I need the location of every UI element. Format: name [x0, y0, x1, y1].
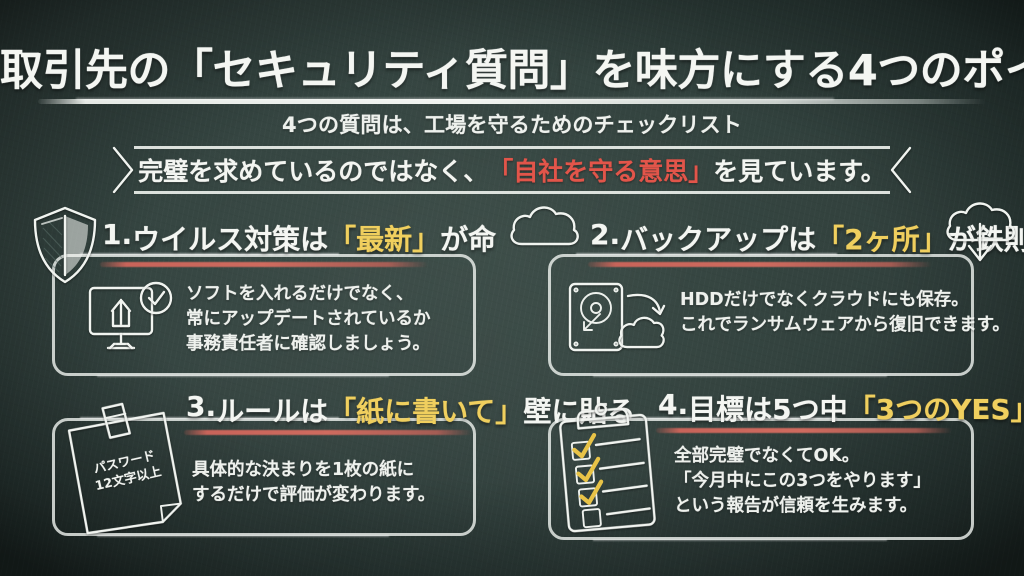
card-2-heading-before: バックアップは: [620, 218, 816, 258]
slide-root: 取引先の「セキュリティ質問」を味方にする4つのポイント 4つの質問は、工場を守る…: [0, 0, 1024, 576]
card-2-heading-underline: [588, 262, 932, 267]
card-3-heading-underline: [184, 430, 472, 435]
card-2-body-line-1: HDDだけでなくクラウドにも保存。: [680, 288, 1010, 313]
card-2-heading: 2. バックアップは「2ヶ所」が鉄則: [590, 218, 974, 258]
card-4[interactable]: 4. 目標は5つ中「3つのYES」 全部完璧でなくてOK。 「今月中にこの3つを…: [548, 418, 974, 540]
ribbon-banner: 完璧を求めているのではなく、「自社を守る意思」を見ています。: [112, 146, 912, 194]
card-1-body-line-2: 常にアップデートされているか: [186, 307, 430, 332]
cloud-icon: [506, 200, 584, 252]
card-4-body-line-2: 「今月中にこの3つをやります」: [674, 469, 931, 494]
card-2[interactable]: 2. バックアップは「2ヶ所」が鉄則 HDDだけでなくクラウドにも保存。 これで…: [548, 254, 974, 376]
title-divider: [38, 99, 986, 104]
card-3-body: 具体的な決まりを1枚の紙に するだけで評価が変わります。: [192, 458, 435, 508]
card-3-number: 3.: [186, 390, 216, 423]
ribbon-text-highlight: 「自社を守る意思」: [488, 152, 713, 188]
cloud-download-icon: [940, 198, 1020, 272]
card-3-heading-before: ルールは: [216, 390, 328, 430]
card-1-heading-before: ウイルス対策は: [132, 218, 328, 258]
card-4-body-line-3: という報告が信頼を生みます。: [674, 494, 931, 519]
arrow-curve-icon: [628, 295, 664, 314]
card-4-heading: 4. 目標は5つ中「3つのYES」: [658, 388, 974, 428]
card-4-heading-underline: [656, 428, 952, 433]
card-3-body-line-1: 具体的な決まりを1枚の紙に: [192, 458, 435, 483]
card-1[interactable]: 1. ウイルス対策は「最新」が命 ソフトを入れるだけでなく、 常にアップデートさ…: [52, 254, 476, 376]
card-1-heading-after: が命: [440, 218, 496, 258]
card-1-body-line-3: 事務責任者に確認しましょう。: [186, 332, 430, 357]
ribbon-text: 完璧を求めているのではなく、「自社を守る意思」を見ています。: [112, 146, 912, 194]
card-4-body: 全部完璧でなくてOK。 「今月中にこの3つをやります」 という報告が信頼を生みま…: [674, 444, 931, 519]
card-3-heading: 3. ルールは「紙に書いて」壁に貼る: [186, 390, 476, 430]
hard-disk-icon: [566, 278, 678, 362]
card-1-body: ソフトを入れるだけでなく、 常にアップデートされているか 事務責任者に確認しまし…: [186, 282, 430, 357]
card-3-heading-highlight: 「紙に書いて」: [328, 390, 523, 430]
card-4-body-line-1: 全部完璧でなくてOK。: [674, 444, 931, 469]
card-1-body-line-1: ソフトを入れるだけでなく、: [186, 282, 430, 307]
paper-note-icon: パスワード 12文字以上: [52, 390, 200, 545]
card-2-number: 2.: [590, 218, 620, 251]
page-subtitle: 4つの質問は、工場を守るためのチェックリスト: [0, 109, 1024, 139]
card-3-body-line-2: するだけで評価が変わります。: [192, 483, 435, 508]
card-2-heading-highlight: 「2ヶ所」: [816, 218, 947, 258]
card-1-heading-highlight: 「最新」: [328, 218, 440, 258]
card-2-body: HDDだけでなくクラウドにも保存。 これでランサムウェアから復旧できます。: [680, 288, 1010, 338]
card-1-number: 1.: [102, 218, 132, 251]
monitor-upload-check-icon: [86, 278, 178, 358]
card-3[interactable]: 3. ルールは「紙に書いて」壁に貼る 具体的な決まりを1枚の紙に するだけで評価…: [52, 418, 476, 536]
page-title: 取引先の「セキュリティ質問」を味方にする4つのポイント: [0, 36, 1024, 98]
ribbon-text-after: を見ています。: [713, 152, 886, 188]
card-4-heading-before: 目標は5つ中: [688, 388, 847, 428]
ribbon-text-before: 完璧を求めているのではなく、: [138, 152, 488, 188]
clipboard-checklist-icon: [548, 396, 667, 541]
card-1-heading-underline: [100, 262, 428, 267]
shield-icon: [29, 204, 101, 286]
card-2-body-line-2: これでランサムウェアから復旧できます。: [680, 313, 1010, 338]
card-4-number: 4.: [658, 388, 688, 421]
card-4-heading-highlight: 「3つのYES」: [848, 388, 1024, 428]
card-1-heading: 1. ウイルス対策は「最新」が命: [102, 218, 476, 258]
